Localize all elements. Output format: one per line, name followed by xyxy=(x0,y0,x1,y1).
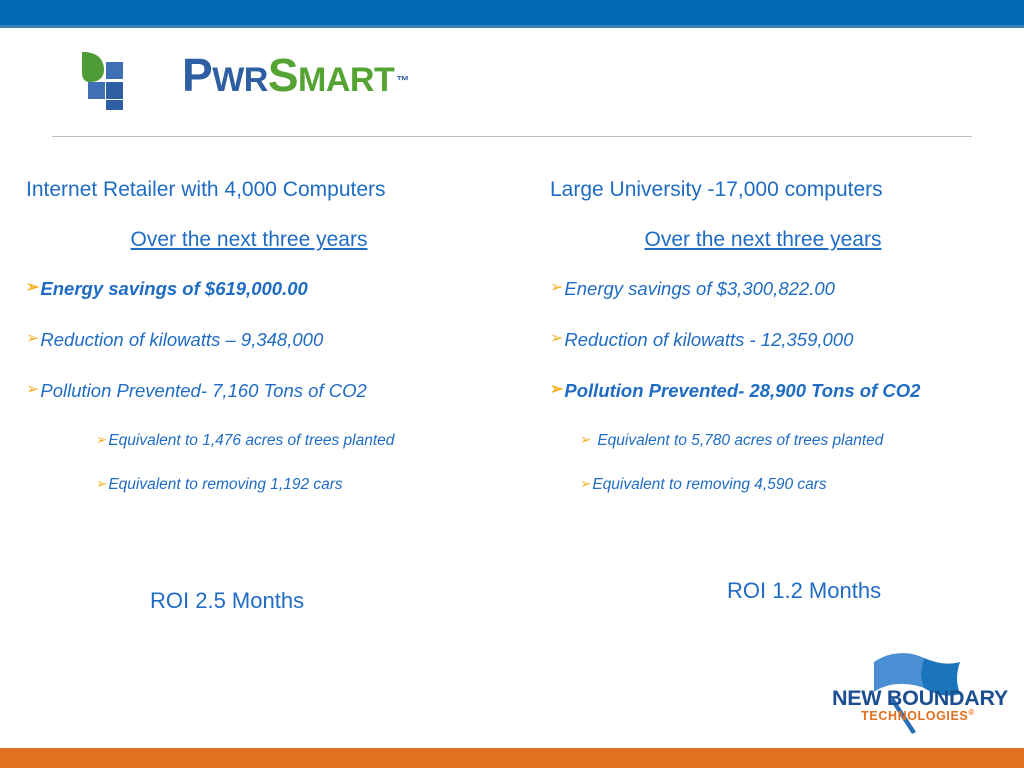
sub-bullet-text: Equivalent to 1,476 acres of trees plant… xyxy=(108,432,394,451)
roi-internet-retailer: ROI 2.5 Months xyxy=(150,588,304,614)
top-accent-bar xyxy=(0,0,1024,25)
sub-bullet-text: Equivalent to removing 1,192 cars xyxy=(108,476,342,495)
column-internet-retailer: Internet Retailer with 4,000 Computers O… xyxy=(14,178,484,521)
roi-large-university: ROI 1.2 Months xyxy=(727,578,881,604)
column-subtitle: Over the next three years xyxy=(528,228,998,252)
arrow-bullet-icon: ➢ xyxy=(580,432,591,449)
sub-bullet-item: ➢ Equivalent to removing 1,192 cars xyxy=(14,476,484,495)
column-subtitle: Over the next three years xyxy=(14,228,484,252)
sub-bullet-item: ➢ Equivalent to 5,780 acres of trees pla… xyxy=(528,432,998,451)
bullet-item: ➢ Pollution Prevented- 7,160 Tons of CO2 xyxy=(14,380,484,402)
bullet-item: ➢ Energy savings of $3,300,822.00 xyxy=(528,278,998,300)
wordmark-mart: MART xyxy=(298,61,394,99)
arrow-bullet-icon: ➢ xyxy=(26,380,39,400)
arrow-bullet-icon: ➢ xyxy=(550,278,563,298)
arrow-bullet-icon: ➢ xyxy=(26,329,39,349)
trademark-symbol: ™ xyxy=(396,73,409,88)
pwrsmart-wordmark: PWRSMART™ xyxy=(182,52,409,98)
wordmark-wr: WR xyxy=(212,61,268,99)
bullet-text: Energy savings of $3,300,822.00 xyxy=(564,278,835,300)
registered-mark: ® xyxy=(968,708,975,717)
bullet-text: Pollution Prevented- 7,160 Tons of CO2 xyxy=(40,380,366,402)
column-title: Internet Retailer with 4,000 Computers xyxy=(14,178,484,202)
pwrsmart-logo-mark xyxy=(78,48,142,110)
new-boundary-technologies-logo: NEW BOUNDARY TECHNOLOGIES® xyxy=(828,648,1006,734)
new-boundary-subtitle-text: TECHNOLOGIES xyxy=(861,709,968,723)
arrow-bullet-icon: ➢ xyxy=(580,476,591,493)
sub-bullet-text: Equivalent to removing 4,590 cars xyxy=(592,476,826,495)
header-divider xyxy=(52,136,972,137)
bullet-text: Reduction of kilowatts – 9,348,000 xyxy=(40,329,323,351)
bottom-accent-bar xyxy=(0,748,1024,768)
arrow-bullet-icon: ➢ xyxy=(96,476,107,493)
arrow-bullet-icon: ➢ xyxy=(550,329,563,349)
column-subtitle-text: Over the next three years xyxy=(645,228,882,251)
column-large-university: Large University -17,000 computers Over … xyxy=(528,178,998,521)
column-title: Large University -17,000 computers xyxy=(528,178,998,202)
bullet-list: ➢ Energy savings of $3,300,822.00 ➢ Redu… xyxy=(528,278,998,495)
top-accent-bar-shadow xyxy=(0,25,1024,28)
new-boundary-subtitle: TECHNOLOGIES® xyxy=(832,708,1004,723)
bullet-text: Energy savings of $619,000.00 xyxy=(40,278,307,300)
wordmark-s: S xyxy=(268,49,298,101)
wordmark-p: P xyxy=(182,49,212,101)
slide-canvas: PWRSMART™ Internet Retailer with 4,000 C… xyxy=(0,0,1024,768)
bullet-item: ➢ Reduction of kilowatts - 12,359,000 xyxy=(528,329,998,351)
bullet-list: ➢ Energy savings of $619,000.00 ➢ Reduct… xyxy=(14,278,484,495)
sub-bullet-text: Equivalent to 5,780 acres of trees plant… xyxy=(597,432,883,451)
bullet-item: ➢ Pollution Prevented- 28,900 Tons of CO… xyxy=(528,380,998,402)
arrow-bullet-icon: ➢ xyxy=(550,380,563,400)
sub-bullet-item: ➢ Equivalent to 1,476 acres of trees pla… xyxy=(14,432,484,451)
arrow-bullet-icon: ➢ xyxy=(96,432,107,449)
bullet-item: ➢ Energy savings of $619,000.00 xyxy=(14,278,484,300)
bullet-text: Pollution Prevented- 28,900 Tons of CO2 xyxy=(564,380,920,402)
sub-bullet-item: ➢ Equivalent to removing 4,590 cars xyxy=(528,476,998,495)
bullet-item: ➢ Reduction of kilowatts – 9,348,000 xyxy=(14,329,484,351)
bullet-text: Reduction of kilowatts - 12,359,000 xyxy=(564,329,853,351)
arrow-bullet-icon: ➢ xyxy=(26,278,39,298)
column-subtitle-text: Over the next three years xyxy=(131,228,368,251)
